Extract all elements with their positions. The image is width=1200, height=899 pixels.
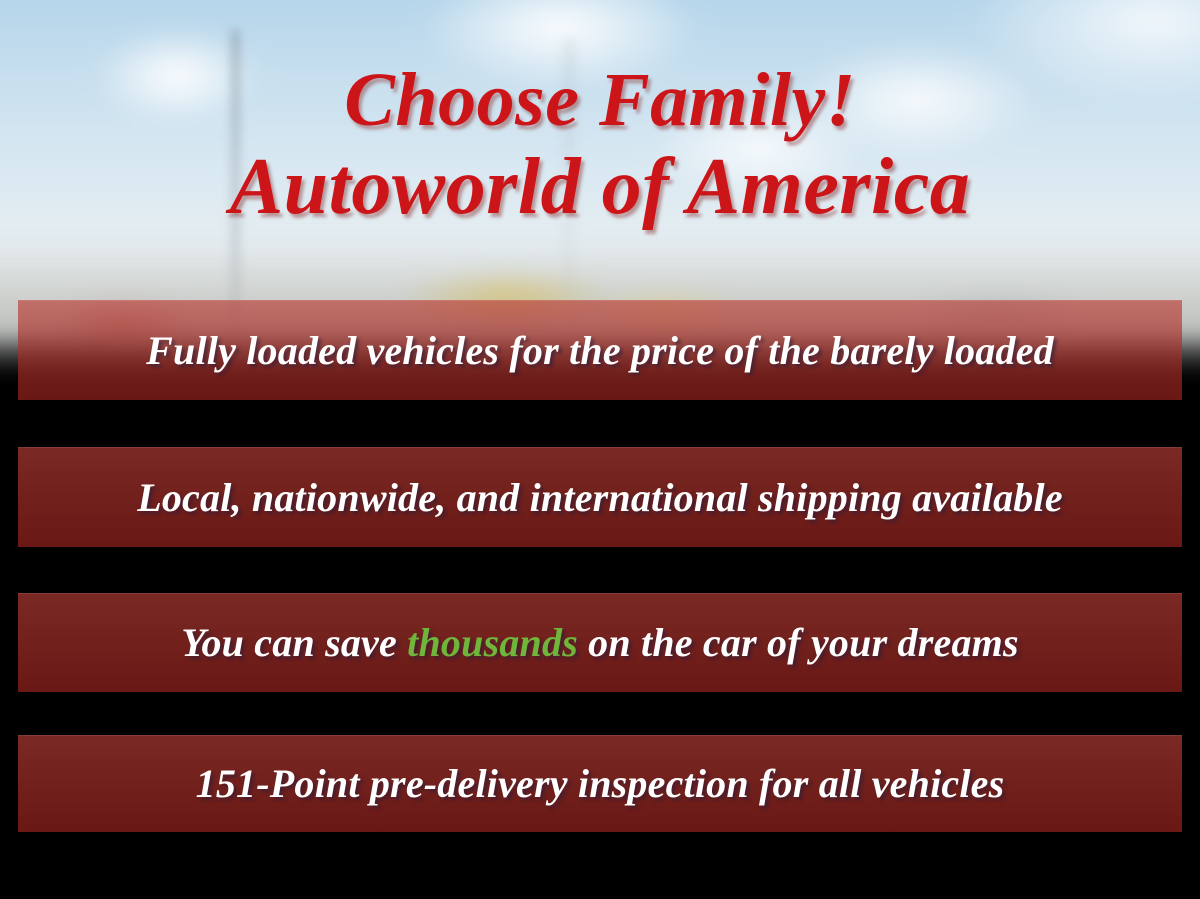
- savings-text-after: on the car of your dreams: [578, 620, 1019, 665]
- feature-banner-1-text: Fully loaded vehicles for the price of t…: [146, 327, 1054, 374]
- savings-highlight: thousands: [407, 620, 578, 665]
- headline-line-1: Choose Family!: [344, 58, 856, 142]
- feature-banner-4-text: 151-Point pre-delivery inspection for al…: [196, 760, 1005, 807]
- feature-banner-4: 151-Point pre-delivery inspection for al…: [18, 735, 1182, 832]
- feature-banner-2-text: Local, nationwide, and international shi…: [137, 474, 1063, 521]
- feature-banner-3-text: You can save thousands on the car of you…: [181, 619, 1019, 666]
- feature-banner-3: You can save thousands on the car of you…: [18, 593, 1182, 692]
- savings-text-before: You can save: [181, 620, 407, 665]
- feature-banner-2: Local, nationwide, and international shi…: [18, 447, 1182, 547]
- feature-banner-1: Fully loaded vehicles for the price of t…: [18, 300, 1182, 400]
- page-title: Choose Family! Autoworld of America: [0, 58, 1200, 233]
- headline-line-2: Autoworld of America: [0, 143, 1200, 233]
- advertisement-banner: Choose Family! Autoworld of America Full…: [0, 0, 1200, 899]
